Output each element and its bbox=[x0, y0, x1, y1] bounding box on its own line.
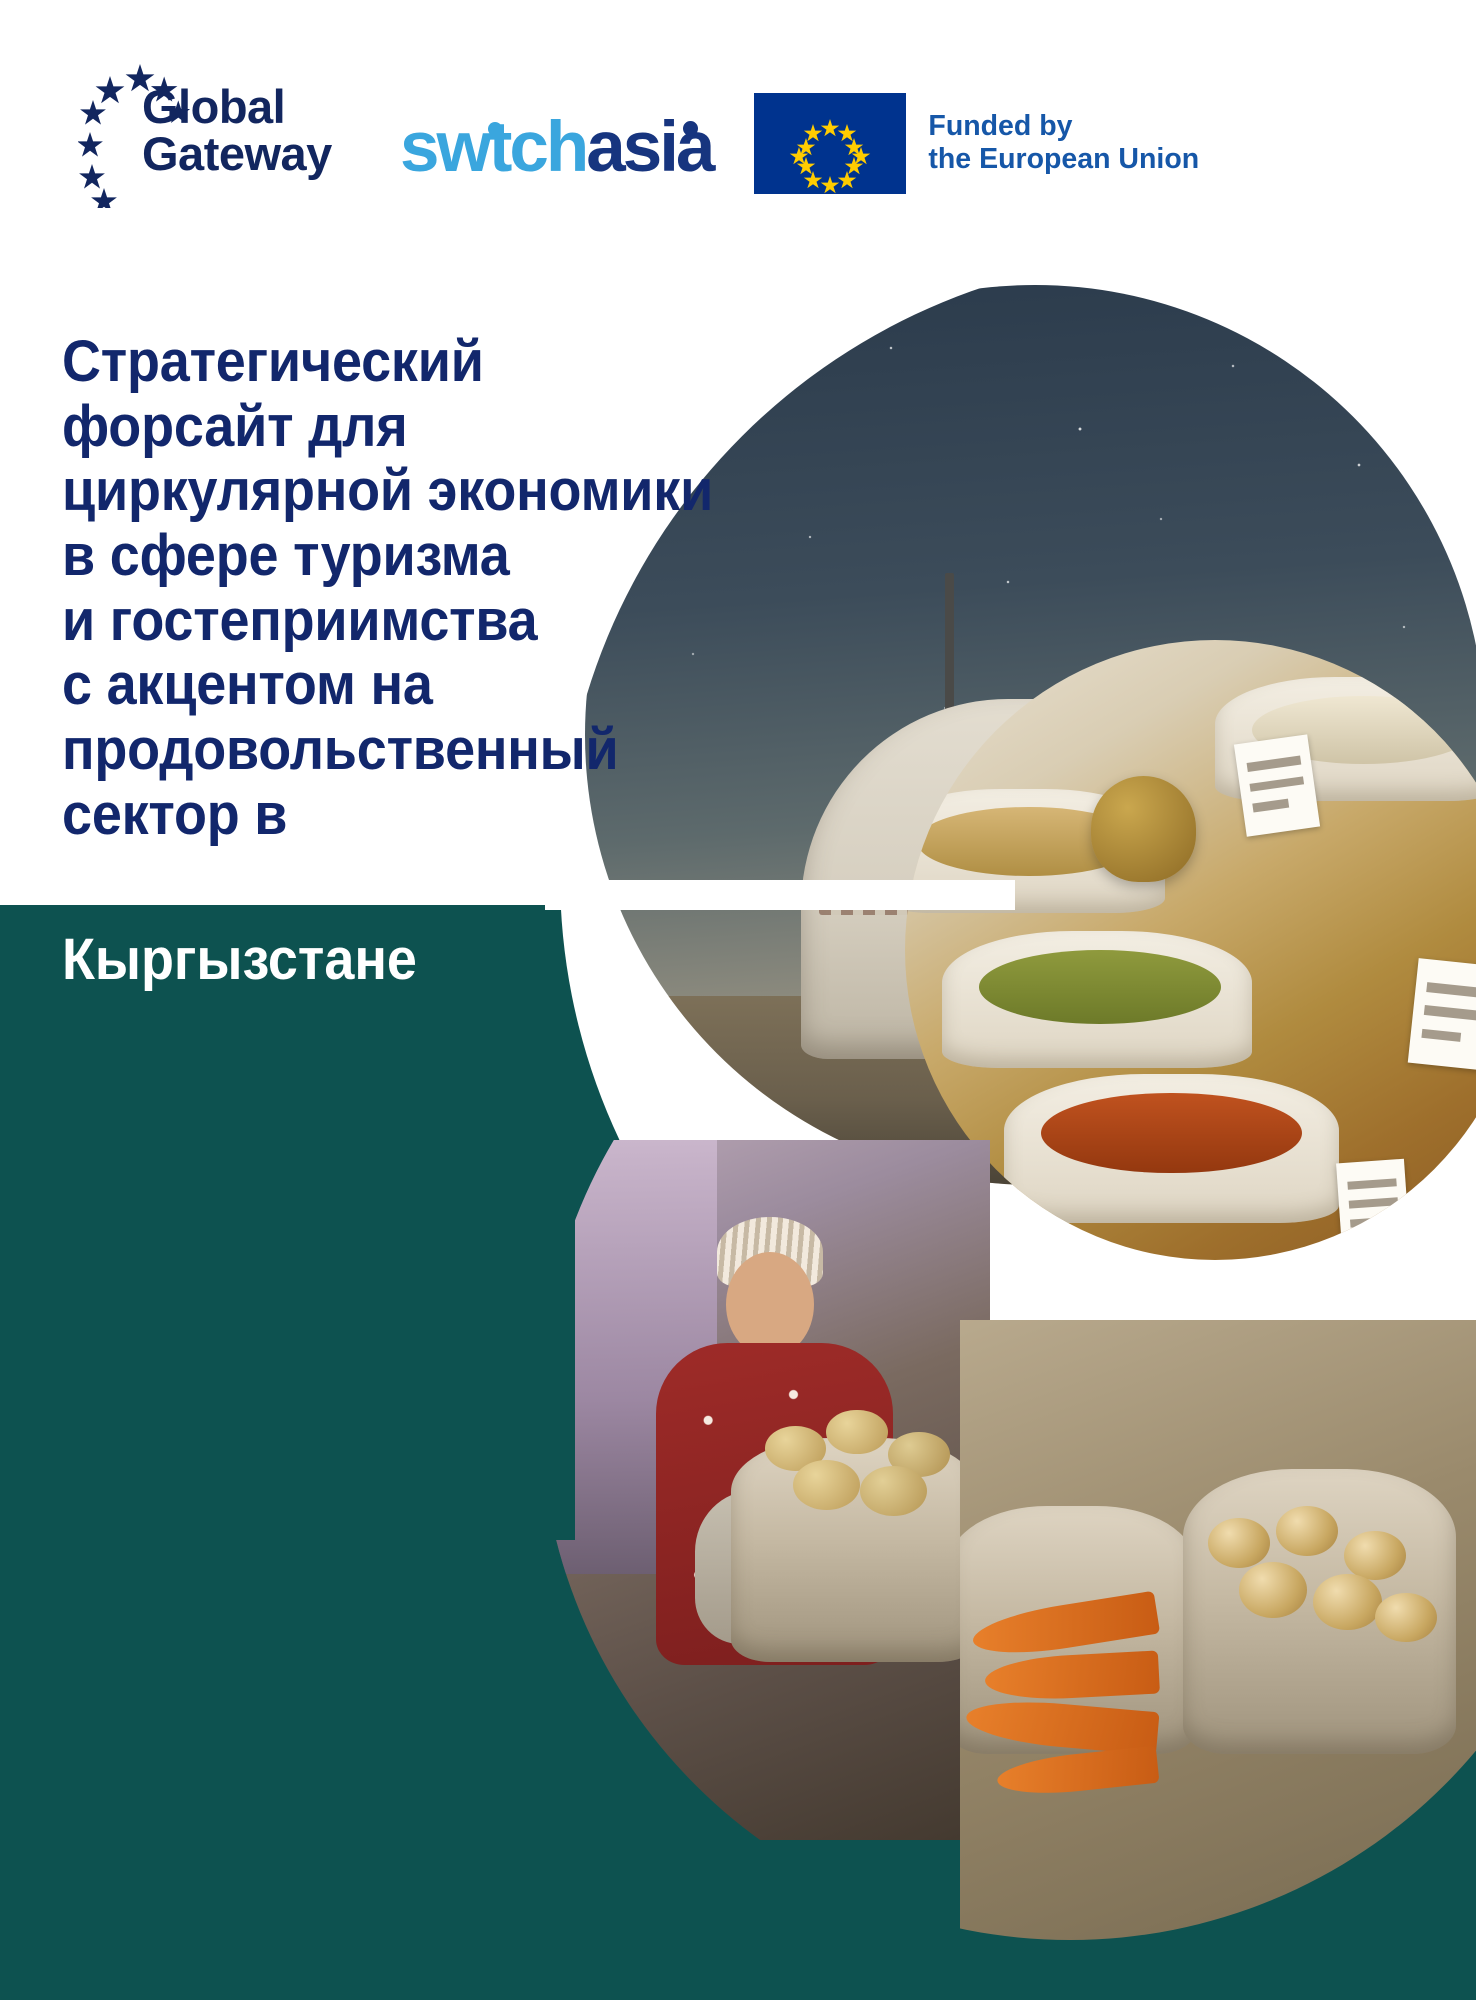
page-title: Стратегический форсайт для циркулярной э… bbox=[62, 330, 713, 847]
photo-collage bbox=[0, 0, 1476, 2000]
title-line-8: сектор в bbox=[62, 783, 713, 848]
switchasia-part1: sw bbox=[400, 108, 489, 187]
switchasia-part3: asia bbox=[586, 108, 712, 187]
global-gateway-wordmark: Global Gateway bbox=[142, 84, 332, 177]
funded-by-eu-logo: Funded by the European Union bbox=[754, 93, 1199, 194]
title-line-3: циркулярной экономики bbox=[62, 459, 713, 524]
global-gateway-line1: Global bbox=[142, 84, 332, 131]
funded-by-eu-line2: the European Union bbox=[928, 143, 1199, 176]
logo-row: Global Gateway swtchasia bbox=[78, 58, 1199, 208]
collage-gap-upper bbox=[545, 880, 1015, 910]
title-line-1: Стратегический bbox=[62, 330, 713, 395]
title-line-5: и гостеприимства bbox=[62, 589, 713, 654]
global-gateway-line2: Gateway bbox=[142, 131, 332, 178]
global-gateway-logo: Global Gateway bbox=[78, 58, 378, 208]
collage-gap-lower bbox=[545, 1120, 575, 1540]
switchasia-i-dot-dark-icon bbox=[683, 121, 698, 136]
funded-by-eu-line1: Funded by bbox=[928, 110, 1199, 143]
title-line-6: с акцентом на bbox=[62, 653, 713, 718]
page-title-country: Кыргызстане bbox=[62, 928, 417, 993]
cover-page: Global Gateway swtchasia bbox=[0, 0, 1476, 2000]
title-line-7: продовольственный bbox=[62, 718, 713, 783]
funded-by-eu-text: Funded by the European Union bbox=[928, 110, 1199, 176]
switchasia-i-dot-icon bbox=[488, 122, 502, 136]
title-line-2: форсайт для bbox=[62, 395, 713, 460]
switch-asia-logo: swtchasia bbox=[400, 112, 712, 183]
switchasia-part2: tch bbox=[489, 108, 587, 187]
title-line-4: в сфере туризма bbox=[62, 524, 713, 589]
eu-flag-icon bbox=[754, 93, 906, 194]
carrots-and-onions-photo bbox=[960, 1320, 1476, 1940]
logo-header: Global Gateway swtchasia bbox=[0, 0, 1476, 255]
